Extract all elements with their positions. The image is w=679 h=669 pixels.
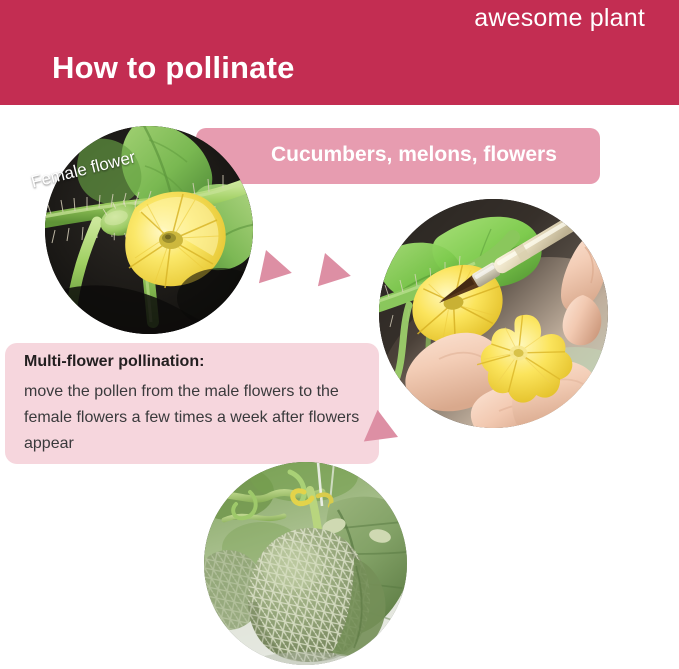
photo-female-flower [45,126,253,334]
page-header: awesome plant How to pollinate [0,0,679,105]
photo-brush-pollination [379,199,608,428]
page-title: How to pollinate [52,50,295,86]
brand-name: awesome plant [474,4,645,33]
pollination-note-title: Multi-flower pollination: [24,353,204,371]
photo-melon-fruit [204,462,407,665]
crops-banner: Cucumbers, melons, flowers [196,128,600,184]
crops-banner-label: Cucumbers, melons, flowers [271,143,557,167]
pollination-note-body: move the pollen from the male flowers to… [24,379,374,457]
pollination-note-panel: Multi-flower pollination: move the polle… [5,343,379,464]
